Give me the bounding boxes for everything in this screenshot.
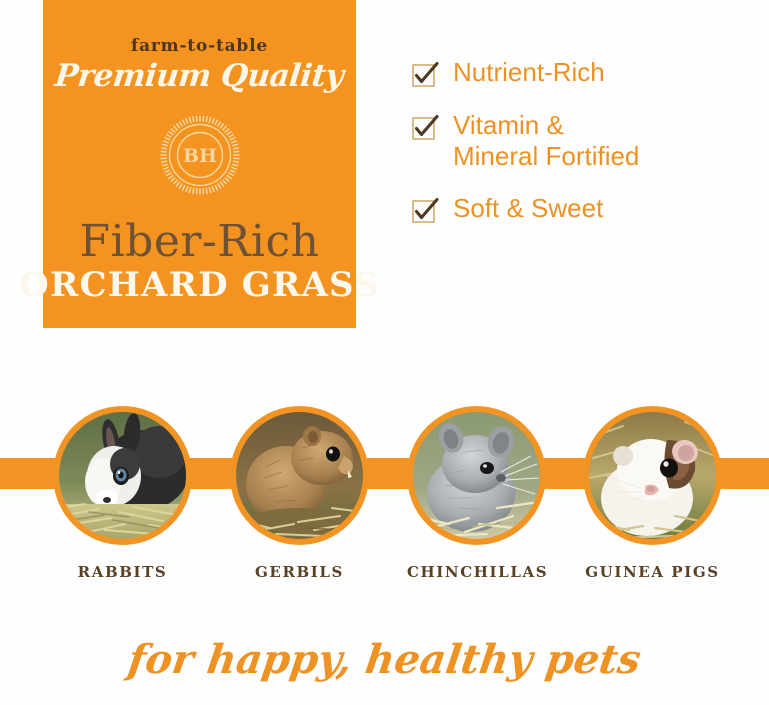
pet-item-guinea-pigs: GUINEA PIGS — [583, 406, 722, 581]
pet-circle — [230, 406, 369, 545]
pet-circle — [53, 406, 192, 545]
tagline: for happy, healthy pets — [0, 636, 769, 683]
benefit-item-nutrient-rich: Nutrient-Rich — [412, 57, 742, 88]
pet-item-rabbits: RABBITS — [53, 406, 192, 581]
pet-label: RABBITS — [53, 563, 192, 581]
benefit-item-vitamin-mineral-fortified: Vitamin & Mineral Fortified — [412, 110, 742, 171]
rabbit-photo — [59, 412, 186, 539]
pet-item-chinchillas: CHINCHILLAS — [407, 406, 546, 581]
benefit-label: Nutrient-Rich — [453, 57, 605, 88]
gerbil-photo — [236, 412, 363, 539]
product-name-line-2: ORCHARD GRASS — [19, 268, 380, 302]
pet-label: CHINCHILLAS — [407, 563, 546, 581]
benefit-label: Soft & Sweet — [453, 193, 603, 224]
premium-quality-script: Premium Quality — [54, 58, 346, 94]
benefit-label: Vitamin & Mineral Fortified — [453, 110, 639, 171]
benefits-list: Nutrient-Rich Vitamin & Mineral Fortifie… — [412, 57, 742, 224]
checkbox-checked-icon — [412, 198, 438, 224]
bh-monogram-seal-icon: BH — [157, 112, 243, 198]
pet-types-row: RABBITS — [0, 406, 769, 586]
pet-label: GUINEA PIGS — [583, 563, 722, 581]
hero-panel: farm-to-table Premium Quality BH Fiber-R… — [43, 0, 356, 328]
checkbox-checked-icon — [412, 115, 438, 141]
product-name-line-1: Fiber-Rich — [80, 220, 320, 264]
eyebrow-text: farm-to-table — [131, 36, 268, 56]
benefit-item-soft-sweet: Soft & Sweet — [412, 193, 742, 224]
pet-label: GERBILS — [230, 563, 369, 581]
chinchilla-photo — [413, 412, 540, 539]
infographic-root: farm-to-table Premium Quality BH Fiber-R… — [0, 0, 769, 705]
pet-circle — [407, 406, 546, 545]
pet-circle — [583, 406, 722, 545]
checkbox-checked-icon — [412, 62, 438, 88]
pet-item-gerbils: GERBILS — [230, 406, 369, 581]
guinea-pig-photo — [589, 412, 716, 539]
seal-monogram-text: BH — [182, 145, 216, 167]
